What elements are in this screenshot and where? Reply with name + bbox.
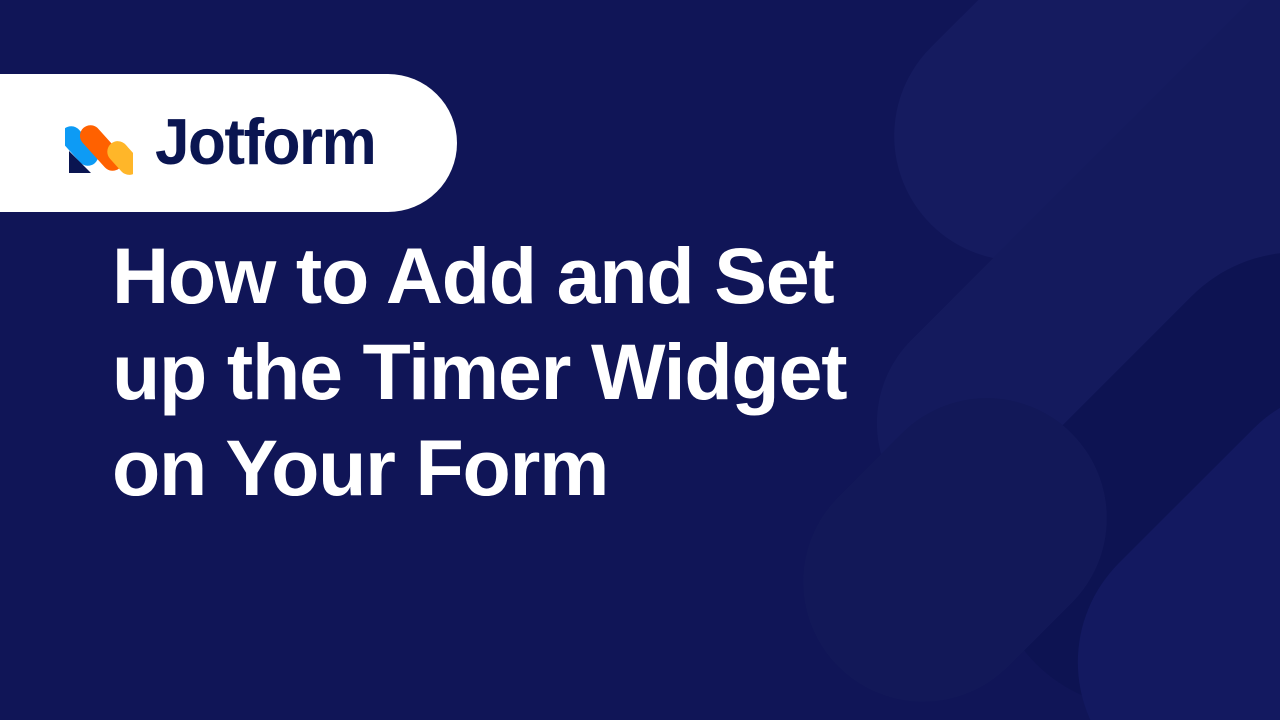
jotform-wordmark: Jotform — [155, 111, 375, 175]
decorative-capsule — [930, 190, 1280, 720]
decorative-capsule — [842, 0, 1280, 313]
decorative-capsule — [828, 0, 1280, 589]
title-slide: Jotform How to Add and Set up the Timer … — [0, 0, 1280, 720]
brand-lockup: Jotform — [65, 111, 375, 175]
jotform-logo-mark-icon — [65, 111, 133, 175]
brand-logo-pill: Jotform — [0, 74, 457, 212]
page-title: How to Add and Set up the Timer Widget o… — [112, 228, 872, 516]
decorative-capsule — [1020, 330, 1280, 720]
